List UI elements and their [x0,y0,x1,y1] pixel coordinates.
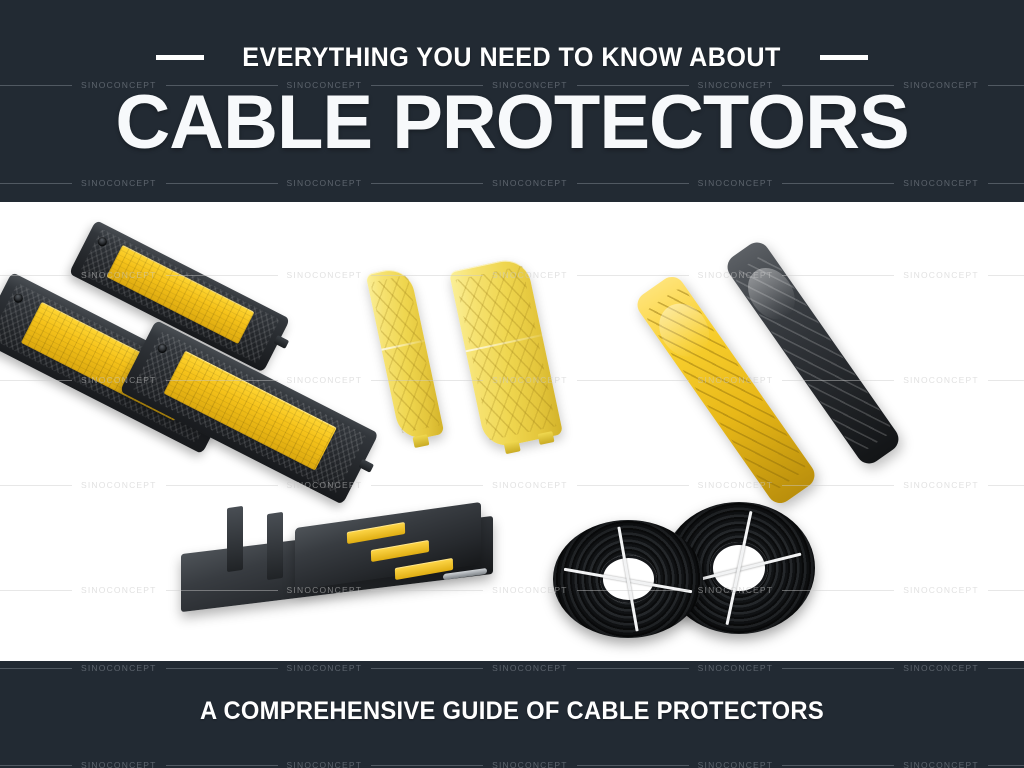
cable-coil-front [553,520,703,638]
footer-caption: A COMPREHENSIVE GUIDE OF CABLE PROTECTOR… [26,697,999,726]
product-yellow-plastic-pair [375,262,655,472]
protector-connector-tab [358,459,374,473]
protector-chevron-tread [370,274,440,433]
protector-foot [538,431,555,445]
product-cable-coils [545,502,830,642]
page-title: CABLE PROTECTORS [0,86,1024,160]
product-rubber-2-channel-group [0,212,360,482]
yellow-protector-right [449,256,563,450]
ramp-fin [267,512,283,580]
kicker-dash-left [156,55,204,60]
protector-foot [504,440,521,454]
kicker-text: EVERYTHING YOU NEED TO KNOW ABOUT [243,44,782,71]
footer-banner: A COMPREHENSIVE GUIDE OF CABLE PROTECTOR… [0,661,1024,768]
kicker-dash-right [820,55,868,60]
hose-ramp-assembly [175,497,505,617]
product-hose-ramp [175,497,505,622]
header-banner: EVERYTHING YOU NEED TO KNOW ABOUT CABLE … [0,0,1024,202]
product-rounded-bar-pair [660,242,1024,472]
header-kicker: EVERYTHING YOU NEED TO KNOW ABOUT [0,44,1024,71]
product-stage [0,202,1024,661]
protector-foot [412,434,429,448]
ramp-fin [227,506,243,572]
yellow-protector-left [366,265,445,442]
